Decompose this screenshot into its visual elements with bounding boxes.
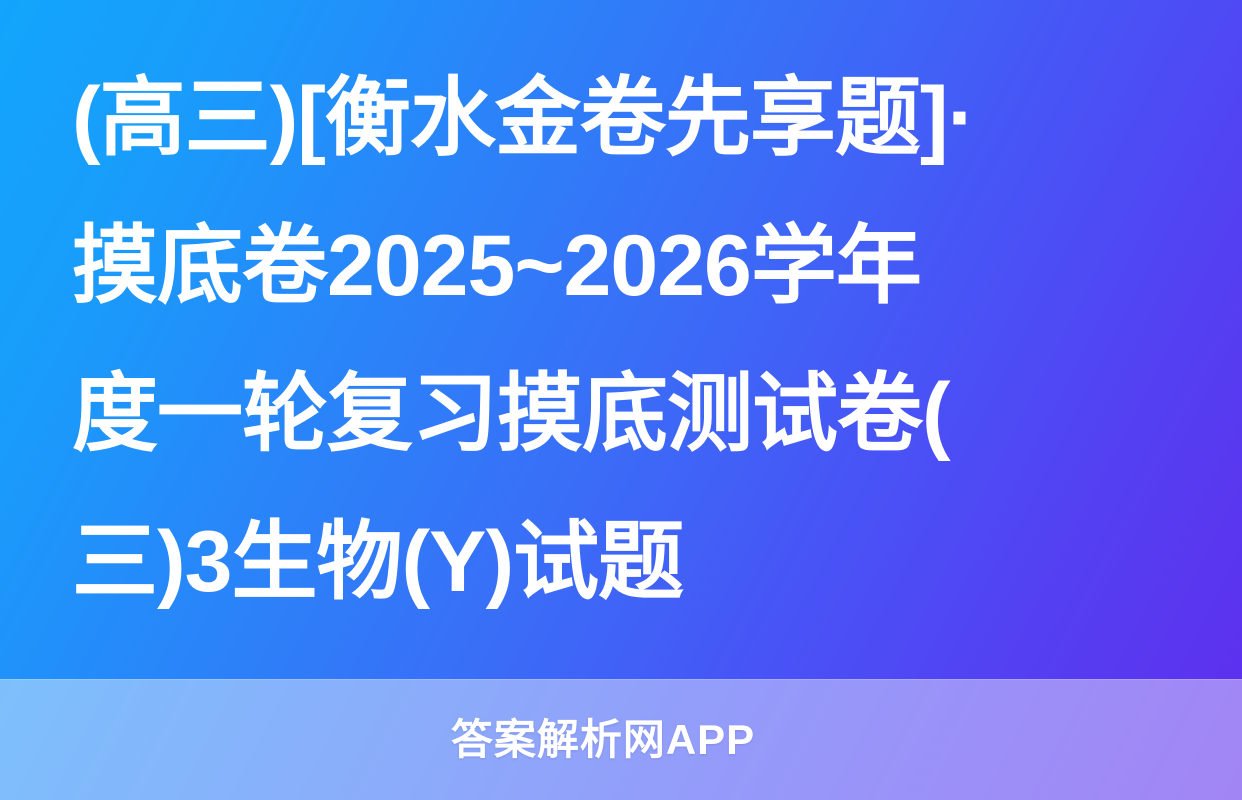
exam-title-line-3: 度一轮复习摸底测试卷( (72, 340, 1178, 488)
watermark-app-label: 答案解析网APP (451, 719, 755, 761)
exam-title-line-2: 摸底卷2025~2026学年 (72, 192, 1178, 340)
exam-cover-card: (高三)[衡水金卷先享题]· 摸底卷2025~2026学年 度一轮复习摸底测试卷… (0, 0, 1242, 800)
watermark-band: 答案解析网APP (0, 679, 1242, 800)
exam-title-block: (高三)[衡水金卷先享题]· 摸底卷2025~2026学年 度一轮复习摸底测试卷… (0, 0, 1242, 679)
exam-title-line-1: (高三)[衡水金卷先享题]· (72, 44, 1178, 192)
exam-title-line-4: 三)3生物(Y)试题 (72, 488, 1178, 636)
